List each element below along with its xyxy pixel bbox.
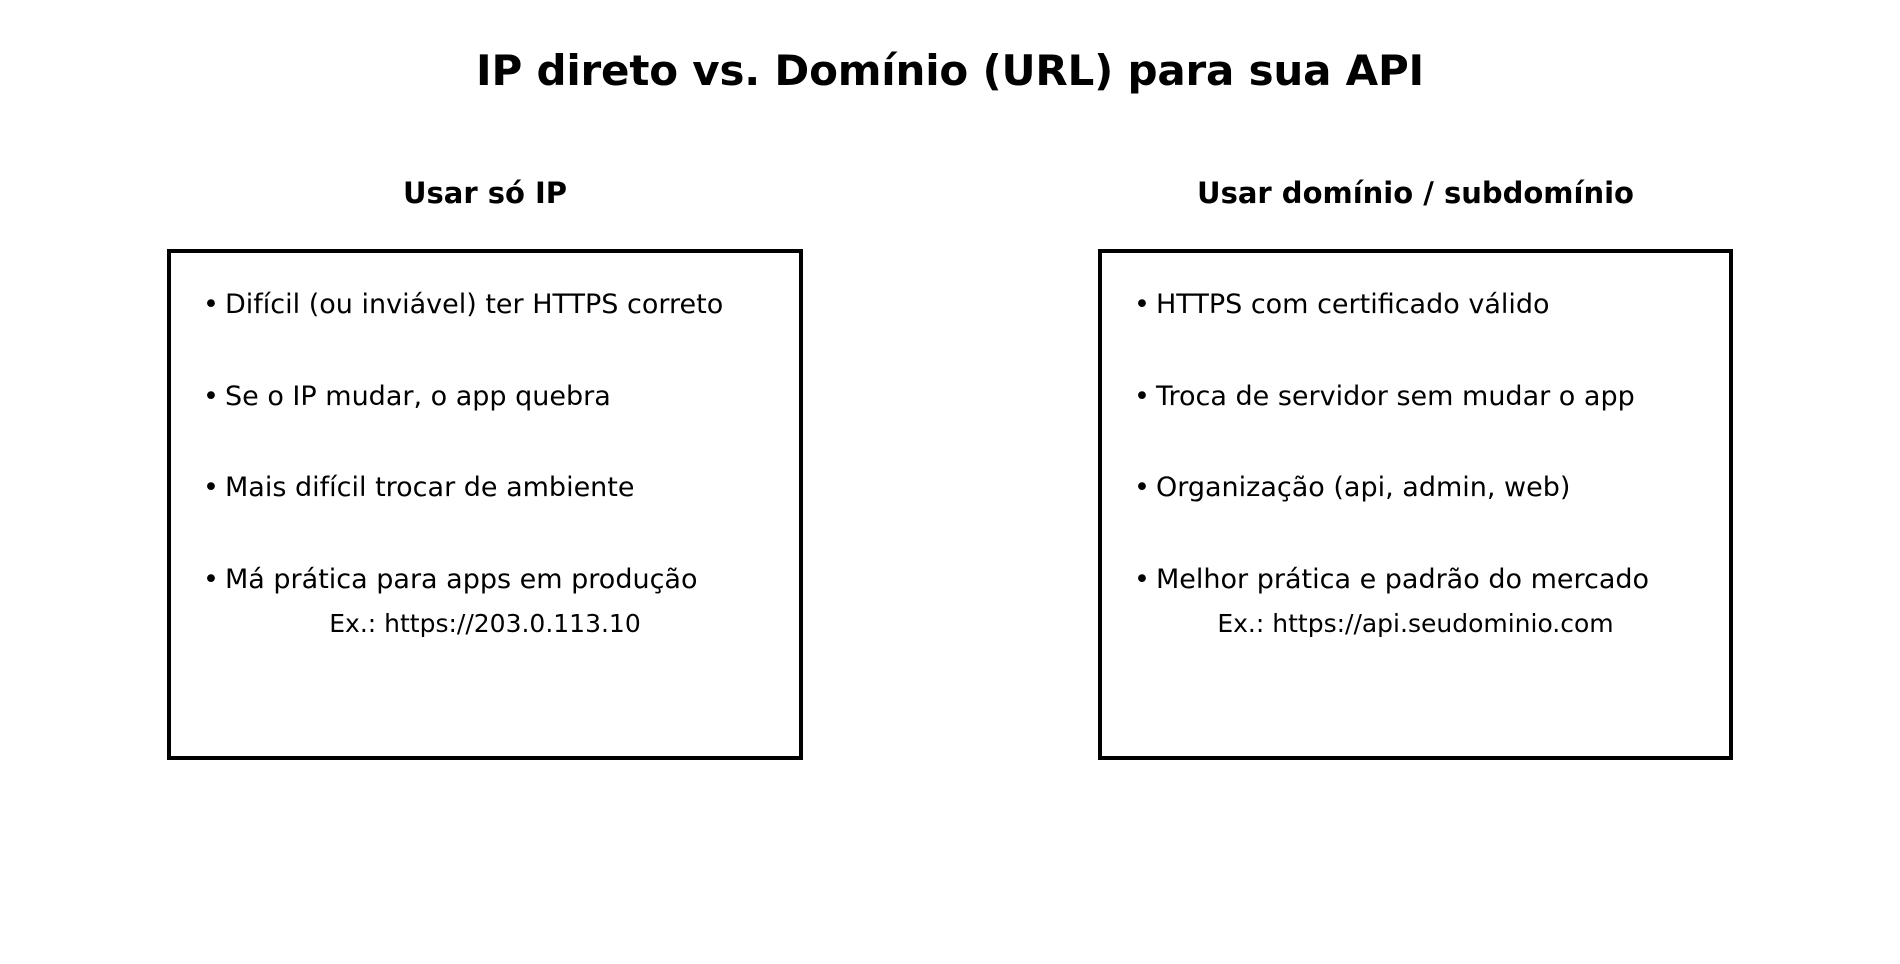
list-item: • Difícil (ou inviável) ter HTTPS corret… <box>203 289 723 320</box>
list-item: • Troca de servidor sem mudar o app <box>1134 381 1635 412</box>
panel-ip: • Difícil (ou inviável) ter HTTPS corret… <box>167 249 803 760</box>
example-url-domain: Ex.: https://api.seudominio.com <box>1102 610 1729 639</box>
bullet-dot-icon: • <box>203 472 225 503</box>
list-item: • Má prática para apps em produção <box>203 564 697 595</box>
list-item-label: Mais difícil trocar de ambiente <box>225 472 635 503</box>
page-title: IP direto vs. Domínio (URL) para sua API <box>0 48 1900 94</box>
list-item-label: Má prática para apps em produção <box>225 564 697 595</box>
bullet-dot-icon: • <box>1134 381 1156 412</box>
bullet-dot-icon: • <box>203 381 225 412</box>
bullet-list-ip: • Difícil (ou inviável) ter HTTPS corret… <box>171 253 799 756</box>
list-item: • Se o IP mudar, o app quebra <box>203 381 611 412</box>
list-item-label: Troca de servidor sem mudar o app <box>1156 381 1635 412</box>
column-header-ip: Usar só IP <box>167 178 803 210</box>
list-item-label: Melhor prática e padrão do mercado <box>1156 564 1649 595</box>
bullet-dot-icon: • <box>1134 472 1156 503</box>
panel-domain: • HTTPS com certificado válido • Troca d… <box>1098 249 1733 760</box>
bullet-dot-icon: • <box>203 564 225 595</box>
example-url-ip: Ex.: https://203.0.113.10 <box>171 610 799 639</box>
list-item: • Mais difícil trocar de ambiente <box>203 472 635 503</box>
list-item: • Melhor prática e padrão do mercado <box>1134 564 1649 595</box>
list-item: • Organização (api, admin, web) <box>1134 472 1570 503</box>
column-header-domain: Usar domínio / subdomínio <box>1098 178 1733 210</box>
list-item-label: Organização (api, admin, web) <box>1156 472 1570 503</box>
list-item-label: Se o IP mudar, o app quebra <box>225 381 611 412</box>
list-item-label: Difícil (ou inviável) ter HTTPS correto <box>225 289 723 320</box>
bullet-dot-icon: • <box>1134 289 1156 320</box>
bullet-dot-icon: • <box>1134 564 1156 595</box>
figure-canvas: IP direto vs. Domínio (URL) para sua API… <box>0 0 1900 964</box>
list-item: • HTTPS com certificado válido <box>1134 289 1550 320</box>
list-item-label: HTTPS com certificado válido <box>1156 289 1550 320</box>
bullet-dot-icon: • <box>203 289 225 320</box>
bullet-list-domain: • HTTPS com certificado válido • Troca d… <box>1102 253 1729 756</box>
